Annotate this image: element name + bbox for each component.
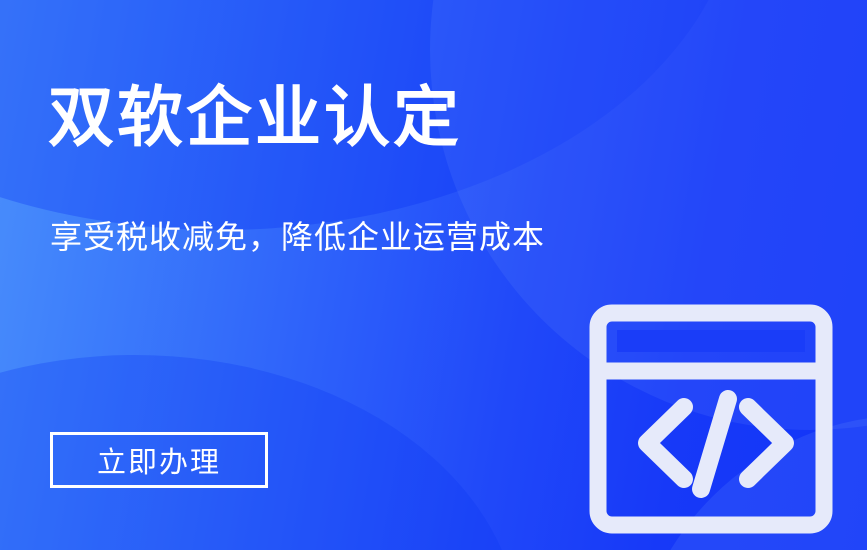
promo-banner: 双软企业认定 享受税收减免，降低企业运营成本 立即办理 [0,0,867,550]
banner-subheadline: 享受税收减免，降低企业运营成本 [50,218,545,256]
code-window-icon-glyph [588,303,834,535]
code-window-icon [588,303,834,535]
apply-now-button[interactable]: 立即办理 [50,432,268,488]
banner-headline: 双软企业认定 [48,84,462,150]
